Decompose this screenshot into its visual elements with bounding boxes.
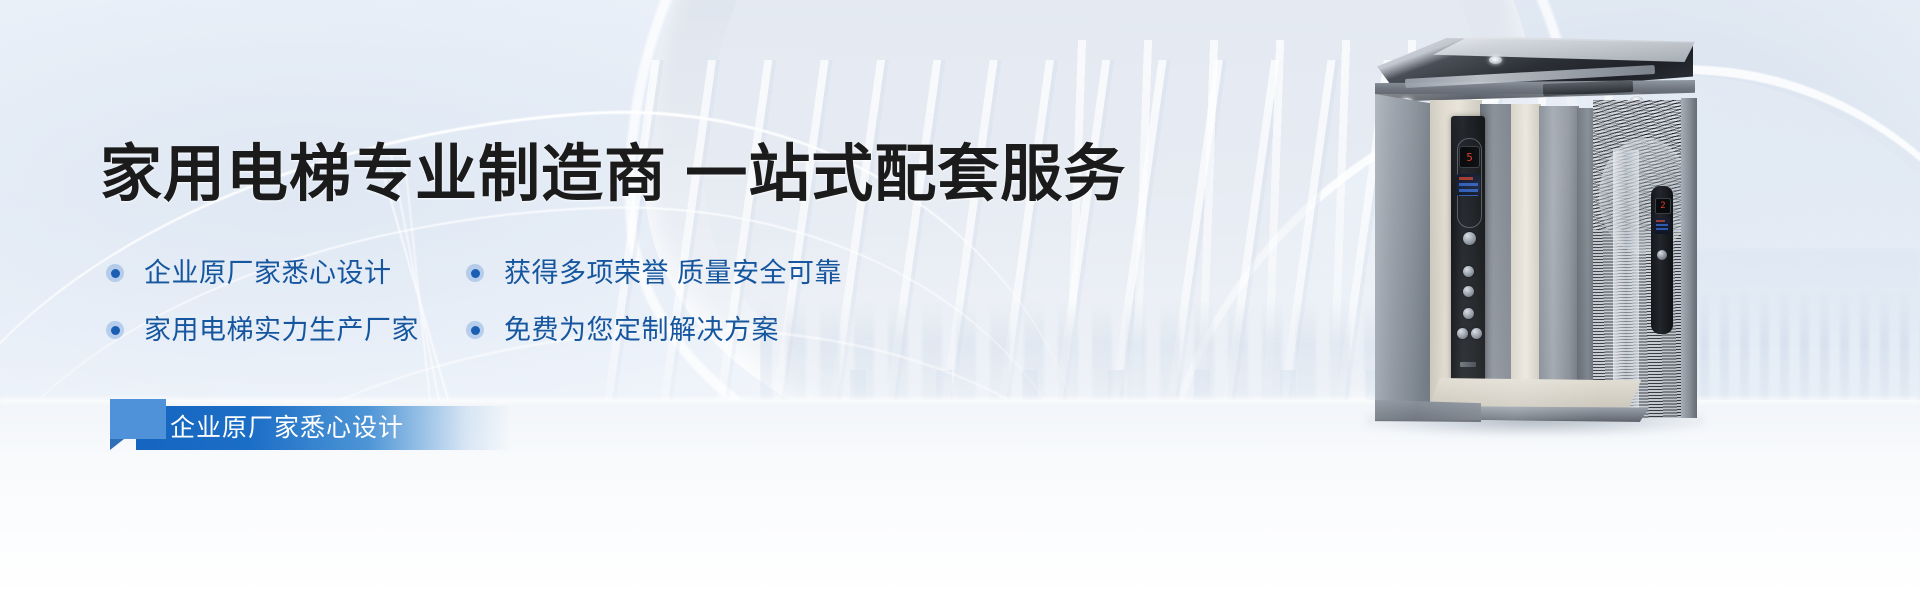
elevator-column-mid (1539, 106, 1579, 420)
feature-item-3: 家用电梯实力生产厂家 (106, 315, 466, 345)
feature-label: 家用电梯实力生产厂家 (144, 315, 419, 345)
floor-button-3 (1463, 308, 1474, 319)
door-close-button (1471, 328, 1482, 339)
feature-label: 获得多项荣誉 质量安全可靠 (504, 258, 842, 288)
inner-floor-indicator: 2 (1655, 198, 1671, 214)
ribbon-tag-label: 企业原厂家悉心设计 (170, 414, 404, 442)
bullet-dot-icon (106, 321, 124, 339)
floor-number: 5 (1466, 152, 1473, 163)
ribbon-flag-icon (110, 399, 166, 439)
elevator-inner-control-panel: 2 (1651, 186, 1673, 334)
elevator-column-dark (1480, 104, 1514, 420)
elevator-cabin-interior: 2 (1593, 100, 1695, 418)
floor-button-1 (1463, 266, 1474, 277)
elevator-base (1375, 400, 1481, 422)
floor-indicator: 5 (1459, 146, 1480, 168)
banner-content: 家用电梯专业制造商 一站式配套服务 企业原厂家悉心设计 获得多项荣誉 质量安全可… (0, 0, 1100, 600)
bullet-dot-icon (466, 321, 484, 339)
inner-call-button (1657, 250, 1667, 260)
promo-banner: 家用电梯专业制造商 一站式配套服务 企业原厂家悉心设计 获得多项荣誉 质量安全可… (0, 0, 1920, 600)
feature-item-1: 企业原厂家悉心设计 (106, 258, 466, 288)
door-open-button (1457, 328, 1468, 339)
product-image-home-elevator: 2 5 (1375, 38, 1695, 420)
downlight-icon (1489, 56, 1502, 64)
elevator-control-panel: 5 (1451, 116, 1485, 396)
page-title: 家用电梯专业制造商 一站式配套服务 (100, 139, 1126, 211)
feature-list: 企业原厂家悉心设计 获得多项荣誉 质量安全可靠 家用电梯实力生产厂家 免费为您定… (106, 258, 966, 372)
keyswitch-button (1463, 232, 1476, 245)
feature-label: 企业原厂家悉心设计 (144, 258, 392, 288)
floor-button-2 (1463, 286, 1474, 297)
feature-row: 企业原厂家悉心设计 获得多项荣誉 质量安全可靠 (106, 258, 966, 315)
elevator-left-wall (1375, 94, 1433, 416)
interior-mirror-strip (1613, 150, 1639, 418)
elevator-right-post (1681, 98, 1697, 418)
feature-label: 免费为您定制解决方案 (504, 315, 779, 345)
display-screen (1457, 174, 1480, 196)
feature-row: 家用电梯实力生产厂家 免费为您定制解决方案 (106, 315, 966, 372)
feature-item-4: 免费为您定制解决方案 (466, 315, 946, 345)
ribbon-tag[interactable]: 企业原厂家悉心设计 (136, 406, 511, 450)
bullet-dot-icon (466, 264, 484, 282)
bullet-dot-icon (106, 264, 124, 282)
brand-logo-plate (1460, 362, 1476, 367)
elevator-door-panel-right (1511, 104, 1541, 420)
feature-item-2: 获得多项荣誉 质量安全可靠 (466, 258, 946, 288)
inner-floor-number: 2 (1660, 202, 1665, 211)
inner-display-screen (1654, 218, 1670, 234)
